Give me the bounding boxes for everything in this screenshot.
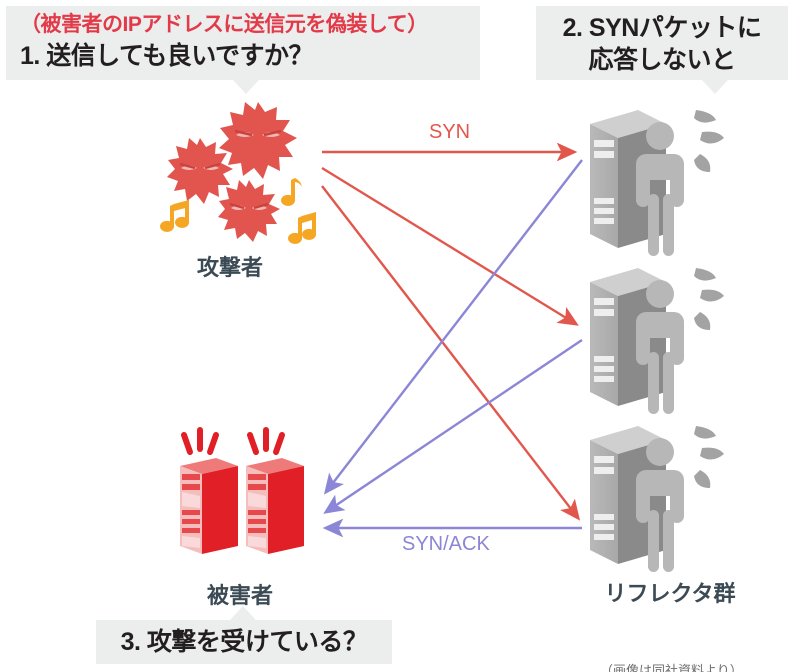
callout-2-line-2: 応答しないと	[550, 44, 774, 76]
callout-bubble-3: 3. 攻撃を受けている？	[96, 620, 392, 664]
sweat-icon	[694, 110, 724, 172]
diagram-artwork	[0, 0, 800, 672]
sweat-icon	[694, 268, 724, 330]
callout-bubble-2: 2. SYNパケットに 応答しないと	[536, 6, 788, 80]
attacker-label: 攻撃者	[160, 250, 300, 282]
synack-flow-label: SYN/ACK	[402, 533, 490, 556]
attacker-icon	[160, 102, 316, 244]
cutoff-caption: （画像は同社資料より）	[600, 660, 796, 672]
callout-2-line-1: 2. SYNパケットに	[550, 12, 774, 44]
reflector-icon-2	[590, 268, 724, 414]
callout-1-line-2: 1. 送信しても良いですか？	[20, 40, 466, 72]
reflectors-label: リフレクタ群	[570, 576, 770, 608]
diagram-canvas: （被害者のIPアドレスに送信元を偽装して） 1. 送信しても良いですか？ 2. …	[0, 0, 800, 672]
callout-1-line-1: （被害者のIPアドレスに送信元を偽装して）	[20, 12, 466, 39]
victim-label: 被害者	[155, 578, 325, 610]
callout-2-tail	[702, 80, 728, 94]
reflector-icon-1	[590, 110, 724, 256]
callout-bubble-1: （被害者のIPアドレスに送信元を偽装して） 1. 送信しても良いですか？	[6, 6, 480, 80]
reflector-icon-3	[590, 426, 724, 572]
victim-icon	[180, 430, 304, 554]
callout-3-line-1: 3. 攻撃を受けている？	[110, 626, 378, 658]
callout-1-tail	[233, 80, 259, 94]
sweat-icon	[694, 426, 724, 488]
syn-flow-label: SYN	[429, 121, 470, 144]
